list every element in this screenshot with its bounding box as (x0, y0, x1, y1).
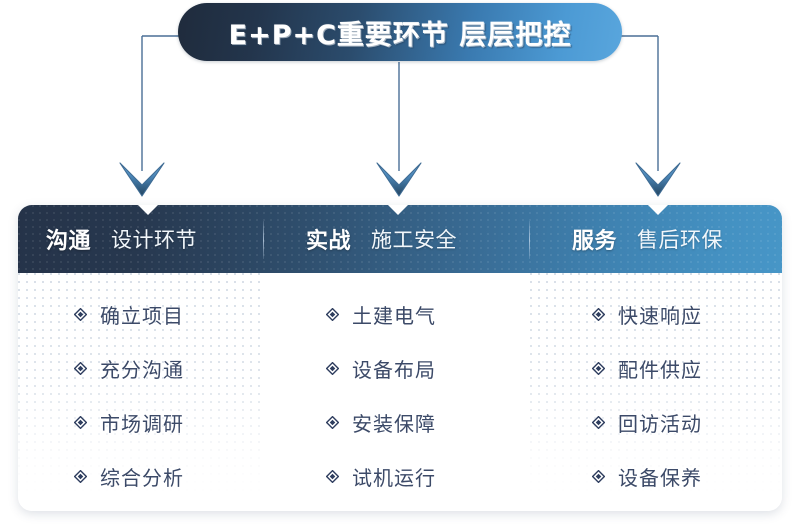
list-item[interactable]: 配件供应 (592, 341, 782, 395)
card-body: 确立项目 充分沟通 市场调研 (18, 273, 782, 511)
list-item[interactable]: 市场调研 (74, 395, 264, 449)
list-item[interactable]: 回访活动 (592, 395, 782, 449)
list-item[interactable]: 确立项目 (74, 287, 264, 341)
infographic-root: E+P+C重要环节 层层把控 沟通 设计环节 实战 施工安全 服务 售后环保 (0, 0, 800, 530)
arrow-center (377, 163, 421, 196)
card-header: 沟通 设计环节 实战 施工安全 服务 售后环保 (18, 205, 782, 273)
list-item-label: 土建电气 (352, 300, 436, 329)
header-subtitle-service: 售后环保 (637, 224, 723, 254)
main-title-banner: E+P+C重要环节 层层把控 (178, 3, 622, 61)
diamond-bullet-icon (74, 470, 87, 483)
list-item-label: 回访活动 (618, 408, 702, 437)
diamond-bullet-icon (592, 362, 605, 375)
diamond-bullet-icon (592, 416, 605, 429)
process-card: 沟通 设计环节 实战 施工安全 服务 售后环保 (18, 205, 782, 511)
list-item-label: 充分沟通 (100, 354, 184, 383)
list-item[interactable]: 设备布局 (326, 341, 530, 395)
column-execution: 土建电气 设备布局 安装保障 (264, 273, 530, 511)
list-item-label: 设备布局 (352, 354, 436, 383)
arrow-right (636, 163, 680, 196)
page-title: E+P+C重要环节 层层把控 (229, 13, 572, 52)
list-item[interactable]: 快速响应 (592, 287, 782, 341)
list-item[interactable]: 土建电气 (326, 287, 530, 341)
header-section-communication[interactable]: 沟通 设计环节 (18, 205, 264, 273)
list-item[interactable]: 试机运行 (326, 449, 530, 503)
list-item-label: 安装保障 (352, 408, 436, 437)
header-subtitle-communication: 设计环节 (111, 224, 197, 254)
diamond-bullet-icon (74, 362, 87, 375)
header-section-execution[interactable]: 实战 施工安全 (264, 205, 530, 273)
diamond-bullet-icon (326, 470, 339, 483)
diamond-bullet-icon (592, 470, 605, 483)
list-item-label: 设备保养 (618, 462, 702, 491)
list-item-label: 市场调研 (100, 408, 184, 437)
list-item-label: 确立项目 (100, 300, 184, 329)
header-subtitle-execution: 施工安全 (371, 224, 457, 254)
diamond-bullet-icon (592, 308, 605, 321)
column-communication: 确立项目 充分沟通 市场调研 (18, 273, 264, 511)
diamond-bullet-icon (74, 308, 87, 321)
arrow-left (120, 163, 164, 196)
diamond-bullet-icon (326, 362, 339, 375)
list-item-label: 快速响应 (618, 300, 702, 329)
diamond-bullet-icon (326, 416, 339, 429)
header-title-communication: 沟通 (46, 223, 91, 255)
list-item-label: 综合分析 (100, 462, 184, 491)
header-title-service: 服务 (572, 223, 617, 255)
header-title-execution: 实战 (306, 223, 351, 255)
diamond-bullet-icon (326, 308, 339, 321)
list-item[interactable]: 综合分析 (74, 449, 264, 503)
diamond-bullet-icon (74, 416, 87, 429)
list-item[interactable]: 设备保养 (592, 449, 782, 503)
column-service: 快速响应 配件供应 回访活动 (530, 273, 782, 511)
list-item-label: 配件供应 (618, 354, 702, 383)
list-item[interactable]: 安装保障 (326, 395, 530, 449)
header-section-service[interactable]: 服务 售后环保 (530, 205, 782, 273)
list-item-label: 试机运行 (352, 462, 436, 491)
list-item[interactable]: 充分沟通 (74, 341, 264, 395)
